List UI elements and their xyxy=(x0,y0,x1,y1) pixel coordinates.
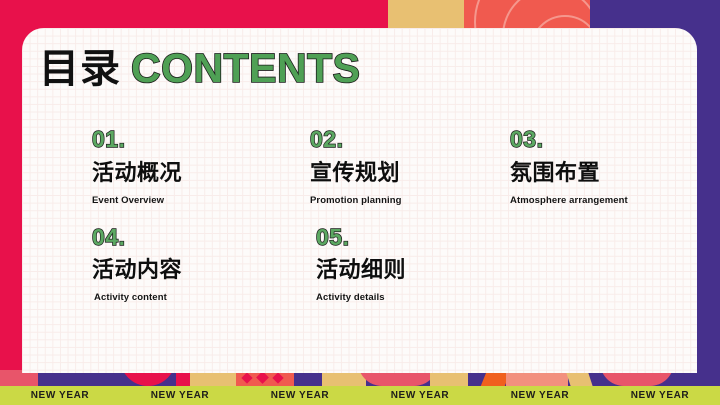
contents-item-05[interactable]: 05. 活动细则 Activity details xyxy=(310,226,510,303)
item-number: 05. xyxy=(316,226,510,249)
banner-label: NEW YEAR xyxy=(31,390,90,401)
item-number: 03. xyxy=(510,128,672,151)
banner-label: NEW YEAR xyxy=(151,390,210,401)
item-title-en: Promotion planning xyxy=(310,195,510,206)
contents-item-01[interactable]: 01. 活动概况 Event Overview xyxy=(92,128,310,226)
item-title-en: Atmosphere arrangement xyxy=(510,195,672,206)
contents-items: 01. 活动概况 Event Overview 02. 宣传规划 Promoti… xyxy=(92,128,672,303)
item-number: 02. xyxy=(310,128,510,151)
item-title-cn: 宣传规划 xyxy=(310,163,510,185)
banner-label: NEW YEAR xyxy=(511,390,570,401)
item-title-cn: 氛围布置 xyxy=(510,163,672,185)
slide-root: 目录 CONTENTS 01. 活动概况 Event Overview 02. … xyxy=(0,0,720,405)
item-title-cn: 活动概况 xyxy=(92,163,310,185)
item-title-en: Activity content xyxy=(94,292,310,303)
contents-item-02[interactable]: 02. 宣传规划 Promotion planning xyxy=(310,128,510,226)
page-title-cn: 目录 xyxy=(39,49,121,89)
item-title-cn: 活动细则 xyxy=(316,260,510,282)
new-year-banner: NEW YEAR NEW YEAR NEW YEAR NEW YEAR NEW … xyxy=(0,386,720,405)
contents-item-03[interactable]: 03. 氛围布置 Atmosphere arrangement xyxy=(510,128,672,226)
page-title: 目录 CONTENTS xyxy=(39,48,361,89)
background-crimson-strip xyxy=(0,0,10,382)
item-number: 04. xyxy=(92,226,310,249)
banner-label: NEW YEAR xyxy=(631,390,690,401)
banner-label: NEW YEAR xyxy=(391,390,450,401)
item-title-en: Event Overview xyxy=(92,195,310,206)
item-title-cn: 活动内容 xyxy=(92,260,310,282)
contents-item-empty xyxy=(510,226,672,303)
item-number: 01. xyxy=(92,128,310,151)
item-title-en: Activity details xyxy=(316,292,510,303)
page-title-en: CONTENTS xyxy=(131,48,361,89)
banner-label: NEW YEAR xyxy=(271,390,330,401)
contents-card: 目录 CONTENTS 01. 活动概况 Event Overview 02. … xyxy=(22,28,697,373)
contents-item-04[interactable]: 04. 活动内容 Activity content xyxy=(92,226,310,303)
